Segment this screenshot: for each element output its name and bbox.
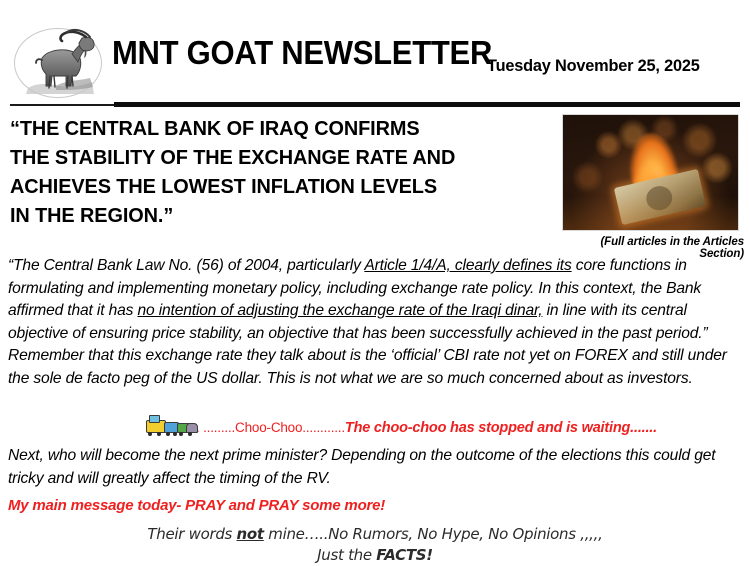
signoff-underline-not: not [237,525,264,543]
signoff-block: Their words not mine…..No Rumors, No Hyp… [0,524,750,566]
article-body: “The Central Bank Law No. (56) of 2004, … [8,255,744,390]
train-wheel [157,432,161,436]
choo-choo-message: The choo-choo has stopped and is waiting… [345,420,657,436]
quote-underline-article-reference: Article 1/4/A, clearly defines its [364,257,571,274]
choo-choo-dots-text: . .........Choo-Choo............ [196,420,345,435]
signoff-line-1: Their words not mine…..No Rumors, No Hyp… [0,524,750,545]
headline-line-4: IN THE REGION.” [10,201,534,230]
mountain-goat-icon [16,24,104,102]
choo-choo-line: . .........Choo-Choo............The choo… [146,418,746,440]
signoff-text-part-3: Just the [317,546,376,564]
train-wheel [148,432,152,436]
headline-line-3: ACHIEVES THE LOWEST INFLATION LEVELS [10,172,534,201]
photo-background [563,115,738,230]
article-commentary-paragraph: Remember that this exchange rate they ta… [8,345,744,390]
headline-line-2: THE STABILITY OF THE EXCHANGE RATE AND [10,143,534,172]
signoff-text-part-2: mine…..No Rumors, No Hype, No Opinions ,… [264,525,603,543]
train-wheel [173,432,177,436]
train-wheel [179,432,183,436]
train-wheel [188,432,192,436]
masthead-logo [14,24,106,102]
headline: “THE CENTRAL BANK OF IRAQ CONFIRMS THE S… [10,114,534,230]
photo-ember-glow [563,196,738,231]
signoff-facts-emphasis: FACTS! [376,546,433,564]
masthead: MNT GOAT NEWSLETTER Tuesday November 25,… [0,0,750,108]
quote-underline-no-intention: no intention of adjusting the exchange r… [137,302,542,319]
headline-line-1: “THE CENTRAL BANK OF IRAQ CONFIRMS [10,114,534,143]
toy-train-icon [146,418,196,436]
quote-text-part-1: “The Central Bank Law No. (56) of 2004, … [8,257,364,274]
article-quote-paragraph: “The Central Bank Law No. (56) of 2004, … [8,255,744,345]
signoff-line-2: Just the FACTS! [0,545,750,566]
header-divider-thick [114,102,740,107]
signoff-text-part-1: Their words [147,525,236,543]
masthead-date: Tuesday November 25, 2025 [487,56,700,76]
header-divider-thin [10,104,118,106]
masthead-title: MNT GOAT NEWSLETTER [112,36,492,69]
train-wheel [166,432,170,436]
prime-minister-paragraph: Next, who will become the next prime min… [8,445,744,490]
burning-dollar-photo [562,114,739,231]
closing-body: Next, who will become the next prime min… [8,445,744,490]
pray-message: My main message today- PRAY and PRAY som… [8,497,385,514]
